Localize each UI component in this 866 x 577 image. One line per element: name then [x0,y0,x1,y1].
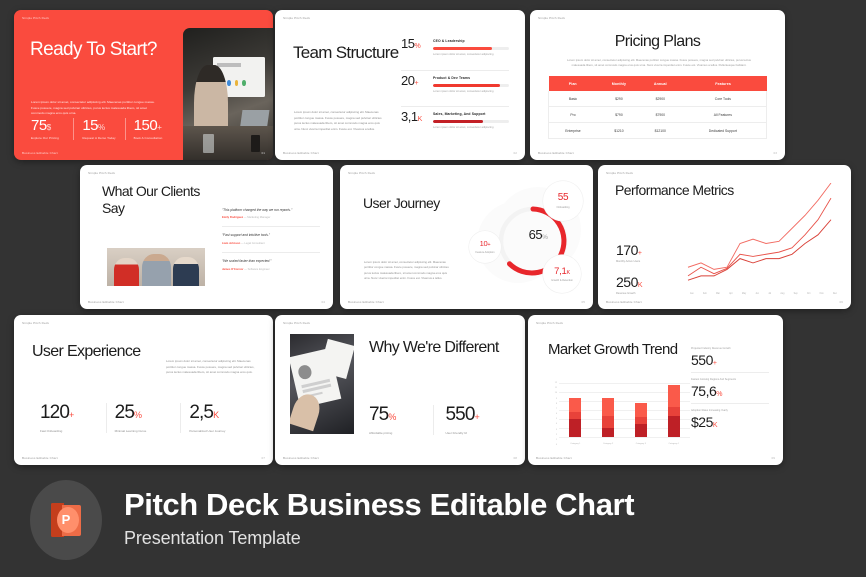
y-tick-label: 4 [556,423,557,425]
metric-value: 15% [401,34,433,54]
kpi-caption: Monthly Active Users [616,260,676,263]
kpi-item: Adoption Rates Increasing Yearly $25K [691,403,769,434]
y-tick-label: 12 [555,382,557,384]
x-tick-label: Category 1 [565,443,585,445]
bar-category-2 [602,398,614,437]
slide-header-label: Simple Pitch Deck [283,321,310,325]
metric-row: 15% CEO & Leadership Lorem ipsum dolor s… [401,34,509,70]
bar-category-4 [668,385,680,437]
kpi-caption: Fastest Growing Regions And Segments [691,378,769,381]
table-header-cell: Plan [549,76,597,91]
bubble-value: 10+ [480,240,491,249]
table-header-row: Plan Monthly Annual Features [549,76,767,91]
testimonial-text: "Fast support and intuitive tools." [222,233,320,238]
slide-header-label: Simple Pitch Deck [536,321,563,325]
slide-title: Ready To Start? [30,40,180,61]
testimonial-text: "This platform changed the way we run re… [222,208,320,213]
slide-footer-label: Business Editable Chart [22,151,58,155]
x-tick-label: Nov [820,293,824,295]
metric-label: Sales, Marketing, And Support [433,112,509,116]
slide-what-our-clients-say[interactable]: Simple Pitch Deck What Our Clients Say "… [80,165,333,309]
slide-body-text: Lorem ipsum dolor sit amet, consectetur … [364,260,452,282]
bubble-value: 55 [558,193,569,203]
table-header-cell: Monthly [597,76,641,91]
stat-value: 2,5K [189,403,247,422]
testimonial-author: Emily Rodriguez — Marketing Manager [222,216,320,219]
journey-bubble-growth-retention: 7,1K Growth & Retention [543,255,581,293]
y-tick-label: 1 [556,439,557,441]
kpi-value: 75,6% [691,384,769,398]
slide-body-text: Lorem ipsum dolor sit amet, consectetur … [31,100,159,117]
slide-ready-to-start[interactable]: Simple Pitch Deck Ready To Start? Lorem … [14,10,273,160]
plot-area [559,383,690,437]
kpi-value: 170+ [616,243,676,257]
testimonial-author: James O'Connor — Software Engineer [222,268,320,271]
slide-pricing-plans[interactable]: Simple Pitch Deck Pricing Plans Lorem ip… [530,10,785,160]
table-cell: $790 [597,107,641,123]
slide-why-were-different[interactable]: Simple Pitch Deck Why We're Different 75… [275,315,525,465]
x-tick-label: May [742,293,746,295]
table-header-cell: Features [680,76,767,91]
slide-page-number: 04 [322,300,325,304]
stat-caption: Minimal Learning Curve [115,429,173,433]
metric-value: 20+ [401,71,433,91]
slide-photo-clients [107,248,205,286]
stat-value: 75% [369,405,427,424]
slide-title: Pricing Plans [530,33,785,51]
progress-bar [433,120,509,123]
y-tick-label: 3 [556,429,557,431]
slide-market-growth-trend[interactable]: Simple Pitch Deck Market Growth Trend 0 … [528,315,783,465]
slide-header-label: Simple Pitch Deck [606,171,633,175]
x-tick-label: Category 4 [664,443,684,445]
stat-item: 75% Affordable pricing [369,405,433,435]
x-tick-label: Jul [768,293,771,295]
testimonial-item: "We scaled faster than expected." James … [222,252,320,278]
x-tick-label: Apr [729,293,733,295]
x-tick-label: Aug [780,293,784,295]
y-tick-label: 5 [556,418,557,420]
slide-page-number: 06 [840,300,843,304]
progress-bar [433,47,509,50]
journey-bubble-onboarding: 55 Onboarding [543,181,583,221]
metric-sub: Lorem ipsum dolor sit amet, consectetur … [433,126,509,129]
slide-footer-label: Business Editable Chart [283,456,319,460]
bubble-caption: Growth & Retention [551,279,573,282]
slide-page-number: 08 [514,456,517,460]
slide-page-number: 05 [582,300,585,304]
slide-performance-metrics[interactable]: Simple Pitch Deck Performance Metrics 17… [598,165,851,309]
stacked-bar-chart: 0 1 2 3 4 5 6 7 8 9 10 11 12 [548,383,690,445]
stat-caption: Explore Our Pricing [31,136,69,140]
kpi-item: 170+ Monthly Active Users [616,237,676,269]
x-tick-label: Category 2 [598,443,618,445]
y-tick-label: 10 [555,392,557,394]
metric-row: 20+ Product & Dev Teams Lorem ipsum dolo… [401,70,509,106]
table-cell: $1210 [597,123,641,139]
stat-caption: Request A Demo Today [82,136,120,140]
stat-value: 75$ [31,118,69,133]
y-tick-label: 6 [556,413,557,415]
kpi-caption: Adoption Rates Increasing Yearly [691,409,769,412]
bottom-banner: P Pitch Deck Business Editable Chart Pre… [0,470,866,577]
table-cell: Enterprise [549,123,597,139]
stat-group: 120+ Fast Onboarding 25% Minimal Learnin… [32,403,255,433]
powerpoint-icon: P [30,480,102,560]
donut-center-value: 65% [513,227,563,242]
y-axis-labels: 0 1 2 3 4 5 6 7 8 9 10 11 12 [548,383,558,445]
slide-header-label: Simple Pitch Deck [538,16,565,20]
table-cell: $290 [597,91,641,107]
metric-row: 3,1K Sales, Marketing, And Support Lorem… [401,106,509,142]
testimonial-group: "This platform changed the way we run re… [222,201,320,278]
stat-item: 150+ Book A Consultation [125,118,176,140]
stat-caption: Personalized User Journey [189,429,247,433]
table-cell: $2900 [641,91,680,107]
metric-label: CEO & Leadership [433,39,509,43]
slide-deck-grid: Simple Pitch Deck Ready To Start? Lorem … [0,0,866,470]
table-cell: Core Tools [680,91,767,107]
line-chart [686,183,841,291]
table-cell: All Features [680,107,767,123]
table-cell: $7900 [641,107,680,123]
metric-sub: Lorem ipsum dolor sit amet, consectetur … [433,53,509,56]
table-cell: Pro [549,107,597,123]
bubble-value: 7,1K [554,267,570,277]
slide-title: Why We're Different [369,339,509,358]
stat-item: 550+ User Friendly UI [433,405,510,435]
metric-value: 3,1K [401,107,433,127]
testimonial-item: "This platform changed the way we run re… [222,201,320,226]
stat-caption: Book A Consultation [134,136,172,140]
x-tick-label: Jan [690,293,694,295]
stat-item: 25% Minimal Learning Curve [106,403,181,433]
kpi-item: Fastest Growing Regions And Segments 75,… [691,372,769,403]
x-tick-label: Sep [794,293,798,295]
slide-user-journey[interactable]: Simple Pitch Deck User Journey Lorem ips… [340,165,593,309]
stat-value: 25% [115,403,173,422]
slide-footer-label: Business Editable Chart [283,151,319,155]
banner-subtitle: Presentation Template [124,528,301,549]
stat-caption: Fast Onboarding [40,429,98,433]
slide-page-number: 07 [262,456,265,460]
bubble-caption: Onboarding [556,206,569,209]
testimonial-text: "We scaled faster than expected." [222,259,320,264]
slide-header-label: Simple Pitch Deck [22,321,49,325]
kpi-caption: Projected Industry Revenue Growth [691,347,769,350]
stat-value: 150+ [134,118,172,133]
slide-footer-label: Business Editable Chart [22,456,58,460]
kpi-item: Projected Industry Revenue Growth 550+ [691,342,769,372]
powerpoint-icon-letter: P [59,511,73,529]
slide-header-label: Simple Pitch Deck [283,16,310,20]
kpi-item: 250K Revenue Growth [616,269,676,301]
x-tick-label: Jun [755,293,759,295]
slide-title: User Journey [363,195,463,212]
slide-user-experience[interactable]: Simple Pitch Deck User Experience Lorem … [14,315,273,465]
y-tick-label: 11 [555,387,557,389]
stat-value: 120+ [40,403,98,422]
bar-group [559,383,690,437]
slide-team-structure[interactable]: Simple Pitch Deck Team Structure Lorem i… [275,10,525,160]
kpi-group: Projected Industry Revenue Growth 550+ F… [691,342,769,434]
y-tick-label: 0 [556,444,557,446]
glass-graphic [203,134,215,154]
slide-photo-meeting [183,28,273,160]
pricing-table: Plan Monthly Annual Features Basic $290 … [548,76,767,139]
y-tick-label: 7 [556,408,557,410]
line-chart-x-labels: Jan Feb Mar Apr May Jun Jul Aug Sep Oct … [686,293,841,295]
slide-footer-label: Business Editable Chart [606,300,642,304]
cup-graphic [251,135,261,152]
slide-photo-documents [290,334,354,434]
slide-page-number: 09 [772,456,775,460]
table-row: Basic $290 $2900 Core Tools [549,91,767,107]
bar-category-3 [635,403,647,437]
x-tick-label: Feb [703,293,707,295]
testimonial-author: Liam Johnson — Legal Consultant [222,242,320,245]
slide-header-label: Simple Pitch Deck [22,16,49,20]
journey-bubble-feature-adoption: 10+ Feature Adoption [469,231,501,263]
y-tick-label: 2 [556,434,557,436]
metric-row-group: 15% CEO & Leadership Lorem ipsum dolor s… [401,34,509,142]
slide-page-number: 01 [262,151,265,155]
bar-category-1 [569,398,581,437]
stat-item: 120+ Fast Onboarding [32,403,106,433]
bubble-caption: Feature Adoption [475,251,494,254]
kpi-value: $25K [691,415,769,429]
table-header-cell: Annual [641,76,680,91]
stat-caption: User Friendly UI [446,431,504,435]
y-tick-label: 8 [556,403,557,405]
table-row: Pro $790 $7900 All Features [549,107,767,123]
slide-page-number: 02 [514,151,517,155]
slide-title: User Experience [32,343,152,362]
table-cell: $12100 [641,123,680,139]
x-tick-label: Oct [807,293,811,295]
kpi-caption: Revenue Growth [616,292,676,295]
stat-value: 15% [82,118,120,133]
table-row: Enterprise $1210 $12100 Dedicated Suppor… [549,123,767,139]
slide-title: What Our Clients Say [102,183,222,216]
stat-value: 550+ [446,405,504,424]
testimonial-item: "Fast support and intuitive tools." Liam… [222,226,320,252]
x-axis-labels: Category 1 Category 2 Category 3 Categor… [559,443,690,445]
x-tick-label: Dec [833,293,837,295]
kpi-group: 170+ Monthly Active Users 250K Revenue G… [616,237,676,301]
y-tick-label: 9 [556,398,557,400]
table-cell: Dedicated Support [680,123,767,139]
metric-sub: Lorem ipsum dolor sit amet, consectetur … [433,90,509,93]
x-tick-label: Category 3 [631,443,651,445]
slide-footer-label: Business Editable Chart [88,300,124,304]
stat-group: 75$ Explore Our Pricing 15% Request A De… [31,118,176,140]
slide-body-text: Lorem ipsum dolor sit amet, consectetur … [294,110,382,133]
stat-item: 2,5K Personalized User Journey [180,403,255,433]
slide-body-text: Lorem ipsum dolor sit amet, consectetur … [566,58,752,69]
stat-group: 75% Affordable pricing 550+ User Friendl… [369,405,509,435]
slide-page-number: 03 [774,151,777,155]
slide-body-text: Lorem ipsum dolor sit amet, consectetur … [166,359,256,376]
banner-title: Pitch Deck Business Editable Chart [124,487,634,523]
slide-title: Market Growth Trend [548,341,693,358]
progress-bar [433,84,509,87]
slide-footer-label: Business Editable Chart [348,300,384,304]
slide-header-label: Simple Pitch Deck [348,171,375,175]
slide-footer-label: Business Editable Chart [536,456,572,460]
stat-item: 75$ Explore Our Pricing [31,118,73,140]
stat-item: 15% Request A Demo Today [73,118,124,140]
slide-title: Team Structure [293,43,405,62]
kpi-value: 550+ [691,353,769,367]
table-cell: Basic [549,91,597,107]
metric-label: Product & Dev Teams [433,76,509,80]
slide-header-label: Simple Pitch Deck [88,171,115,175]
kpi-value: 250K [616,275,676,289]
donut-chart: 65% 55 Onboarding 10+ Feature Adoption 7… [469,179,587,297]
slide-footer-label: Business Editable Chart [538,151,574,155]
x-tick-label: Mar [716,293,720,295]
stat-caption: Affordable pricing [369,431,427,435]
